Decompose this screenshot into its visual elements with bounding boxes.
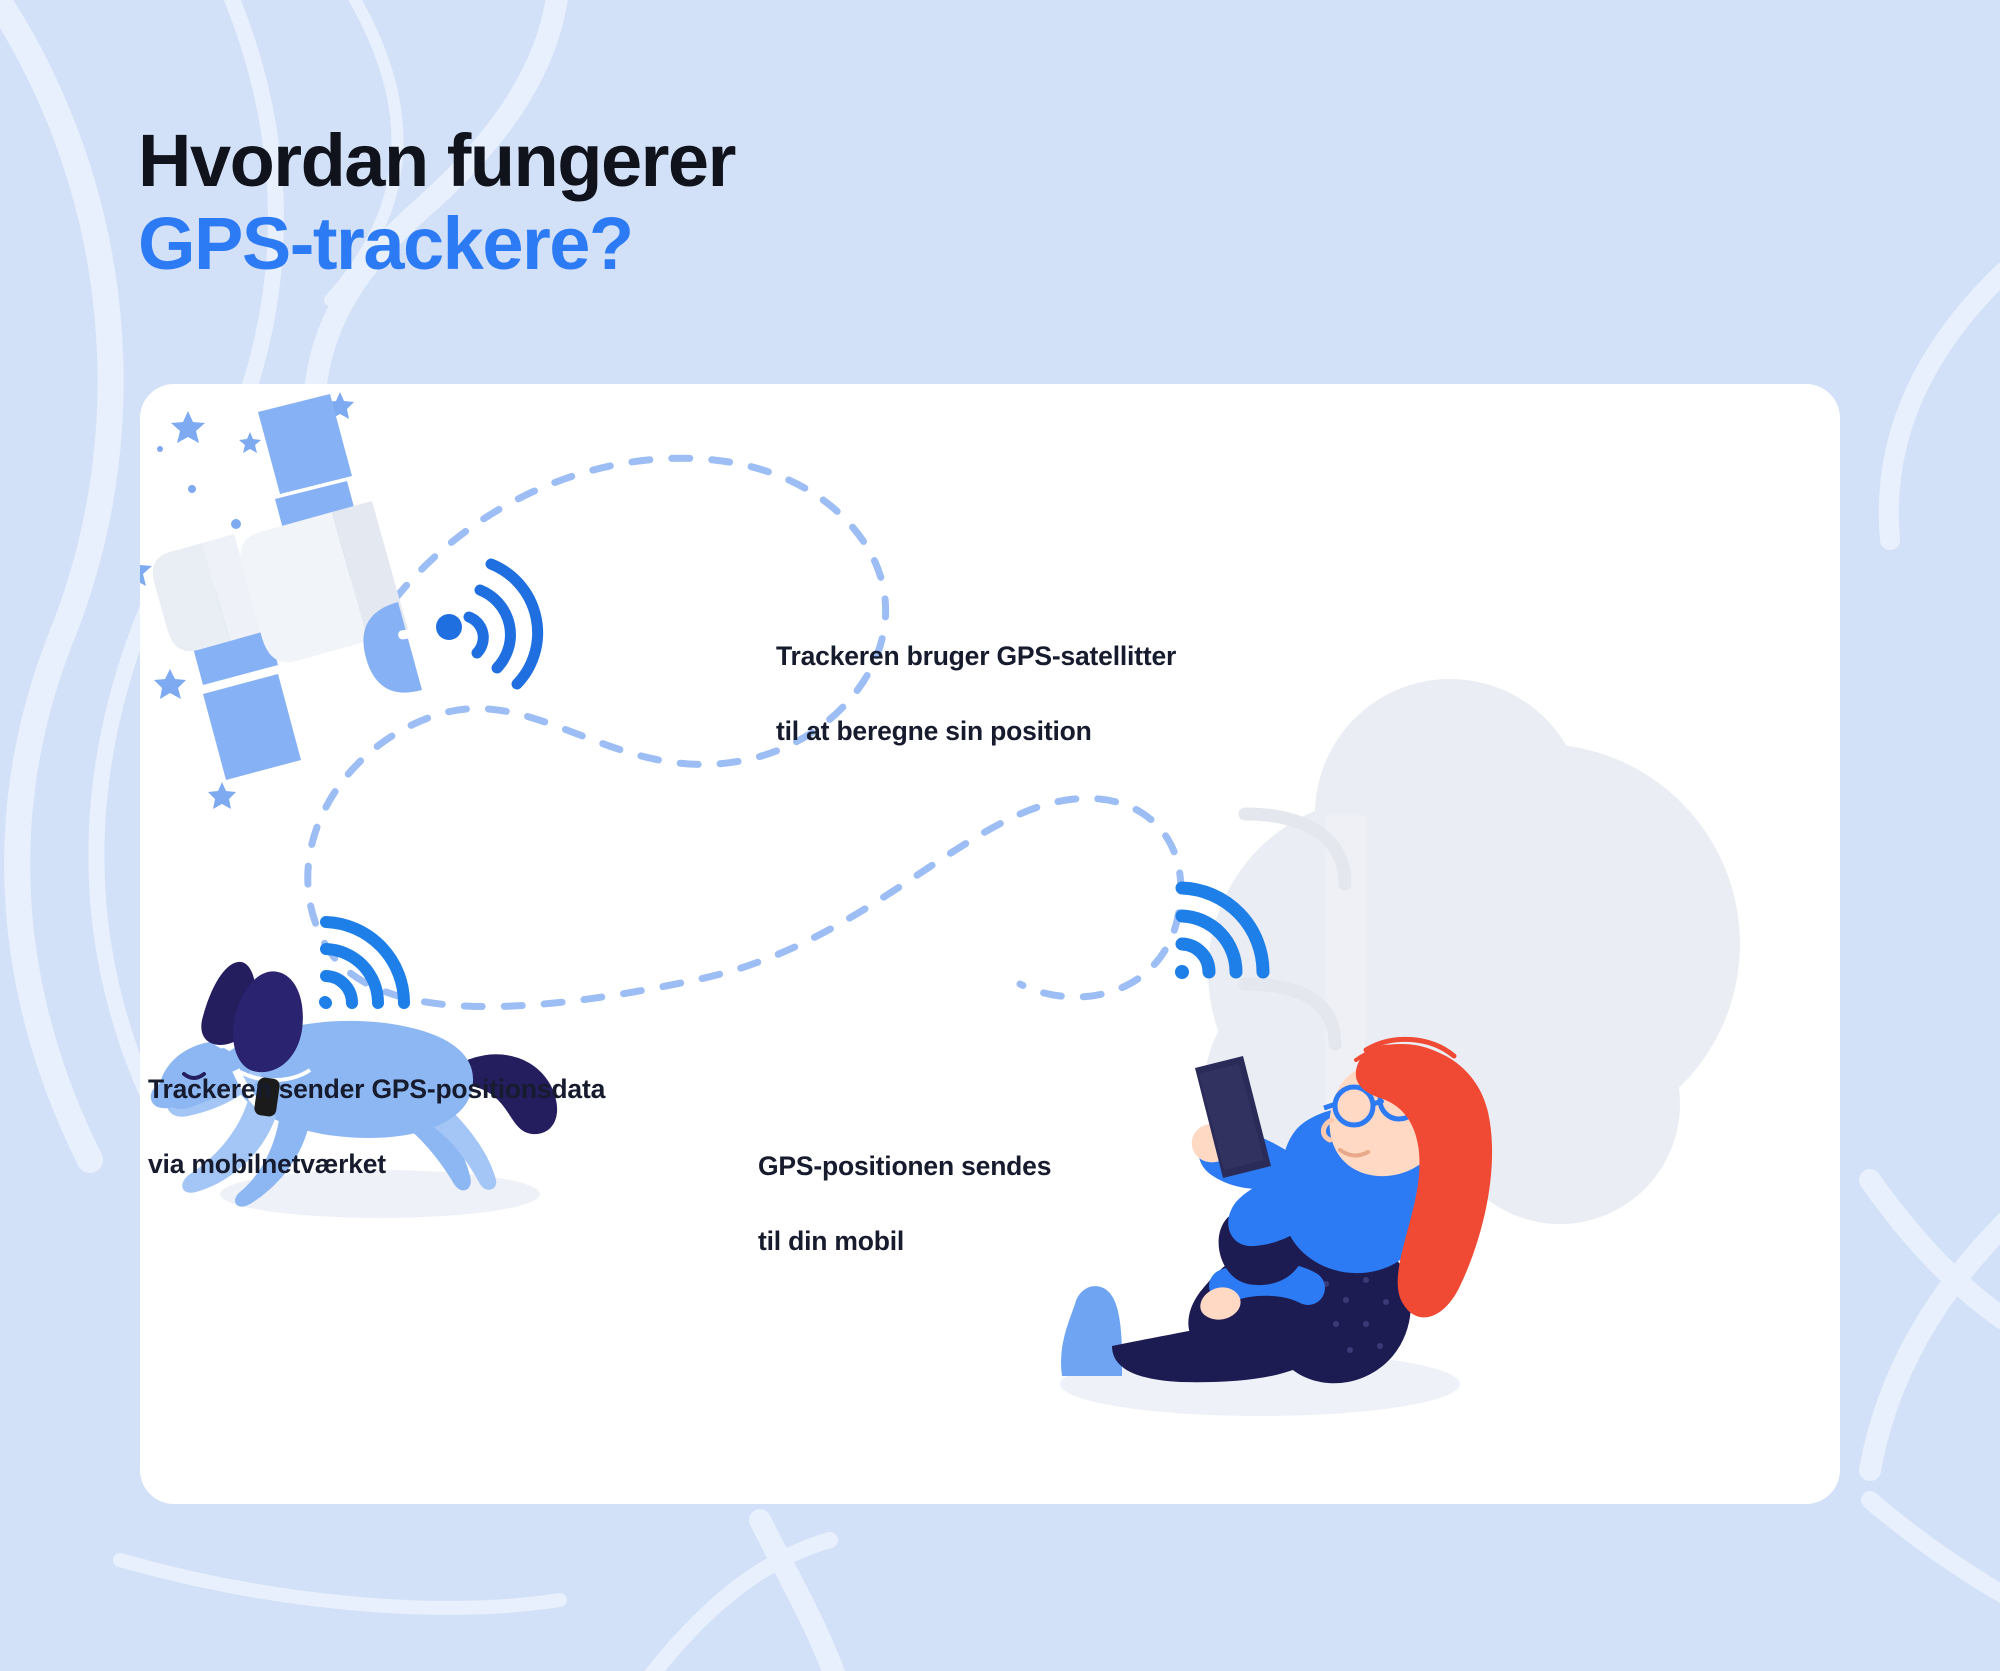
callout-satellite-step: Trackeren bruger GPS-satellitter til at …	[776, 600, 1176, 788]
satellite-wifi-icon	[469, 564, 538, 684]
callout-3-line-2: til din mobil	[758, 1223, 1051, 1261]
callout-3-line-1: GPS-positionen sendes	[758, 1148, 1051, 1186]
callout-tracker-step: Trackeren sender GPS-positionsdata via m…	[148, 1033, 605, 1221]
page-title: Hvordan fungerer GPS-trackere?	[138, 120, 735, 286]
infographic-card: Trackeren bruger GPS-satellitter til at …	[140, 384, 1840, 1504]
infographic-illustration	[140, 384, 1840, 1504]
gps-satellite	[140, 392, 538, 809]
satellite-dish	[363, 602, 462, 693]
callout-1-line-1: Trackeren bruger GPS-satellitter	[776, 638, 1176, 676]
callout-1-line-2: til at beregne sin position	[776, 713, 1176, 751]
callout-2-line-2: via mobilnetværket	[148, 1146, 605, 1184]
callout-2-line-1: Trackeren sender GPS-positionsdata	[148, 1071, 605, 1109]
person-shoe	[1061, 1286, 1122, 1376]
title-line-2: GPS-trackere?	[138, 203, 735, 286]
title-line-1: Hvordan fungerer	[138, 120, 735, 203]
callout-phone-step: GPS-positionen sendes til din mobil	[758, 1110, 1051, 1298]
